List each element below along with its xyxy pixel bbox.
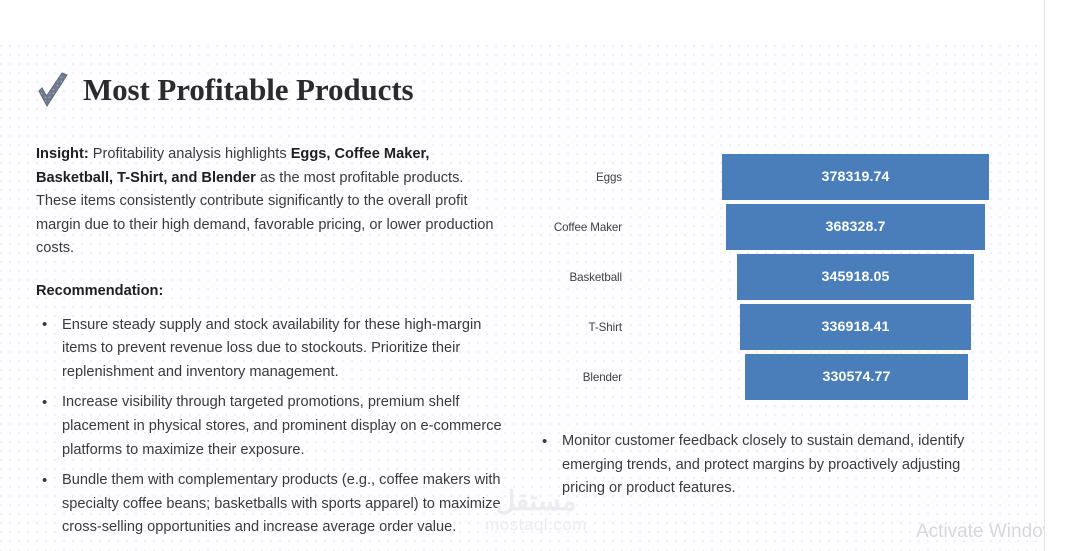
- bar-track: 330574.77: [630, 352, 1006, 402]
- insight-label: Insight:: [36, 146, 89, 162]
- slide-canvas: Most Profitable Products Insight: Profit…: [0, 0, 1065, 551]
- activate-windows-notice: Activate Window: [916, 521, 1056, 543]
- left-text-column: Insight: Profitability analysis highligh…: [36, 143, 502, 547]
- bar: 378319.74: [722, 154, 989, 200]
- bar-track: 378319.74: [630, 152, 1006, 202]
- bar-track: 368328.7: [630, 202, 1006, 252]
- title-row: Most Profitable Products: [36, 72, 414, 108]
- bar-category-label: Blender: [536, 371, 630, 384]
- bar-category-label: Eggs: [536, 171, 630, 184]
- bar-value-label: 345918.05: [822, 269, 890, 285]
- list-item: Monitor customer feedback closely to sus…: [536, 430, 1006, 501]
- list-item: Increase visibility through targeted pro…: [36, 391, 502, 462]
- bar: 368328.7: [726, 204, 985, 250]
- insight-text-before: Profitability analysis highlights: [89, 146, 291, 162]
- chart-row: T-Shirt 336918.41: [536, 302, 1006, 352]
- check-mark-icon: [36, 72, 70, 108]
- recommendation-bullet-list-right: Monitor customer feedback closely to sus…: [536, 430, 1006, 501]
- recommendation-heading: Recommendation:: [36, 280, 502, 304]
- bar: 330574.77: [745, 354, 968, 400]
- chart-row: Coffee Maker 368328.7: [536, 202, 1006, 252]
- chart-row: Eggs 378319.74: [536, 152, 1006, 202]
- page-title: Most Profitable Products: [83, 72, 414, 108]
- bar: 336918.41: [740, 304, 971, 350]
- right-text-column: Monitor customer feedback closely to sus…: [536, 430, 1006, 508]
- bar-track: 336918.41: [630, 302, 1006, 352]
- bar-value-label: 368328.7: [826, 219, 886, 235]
- bar-value-label: 336918.41: [822, 319, 890, 335]
- recommendation-bullet-list: Ensure steady supply and stock availabil…: [36, 314, 502, 540]
- bar-category-label: Basketball: [536, 271, 630, 284]
- bar: 345918.05: [737, 254, 974, 300]
- chart-row: Basketball 345918.05: [536, 252, 1006, 302]
- bar-value-label: 330574.77: [823, 369, 891, 385]
- bar-category-label: T-Shirt: [536, 321, 630, 334]
- right-gutter: [1045, 0, 1065, 551]
- scrollbar-track-divider[interactable]: [1044, 0, 1045, 551]
- list-item: Bundle them with complementary products …: [36, 469, 502, 540]
- bar-category-label: Coffee Maker: [536, 221, 630, 234]
- bar-value-label: 378319.74: [822, 169, 890, 185]
- list-item: Ensure steady supply and stock availabil…: [36, 314, 502, 385]
- insight-paragraph: Insight: Profitability analysis highligh…: [36, 143, 502, 261]
- profit-bar-chart: Eggs 378319.74 Coffee Maker 368328.7 Bas…: [536, 152, 1006, 402]
- chart-row: Blender 330574.77: [536, 352, 1006, 402]
- bar-track: 345918.05: [630, 252, 1006, 302]
